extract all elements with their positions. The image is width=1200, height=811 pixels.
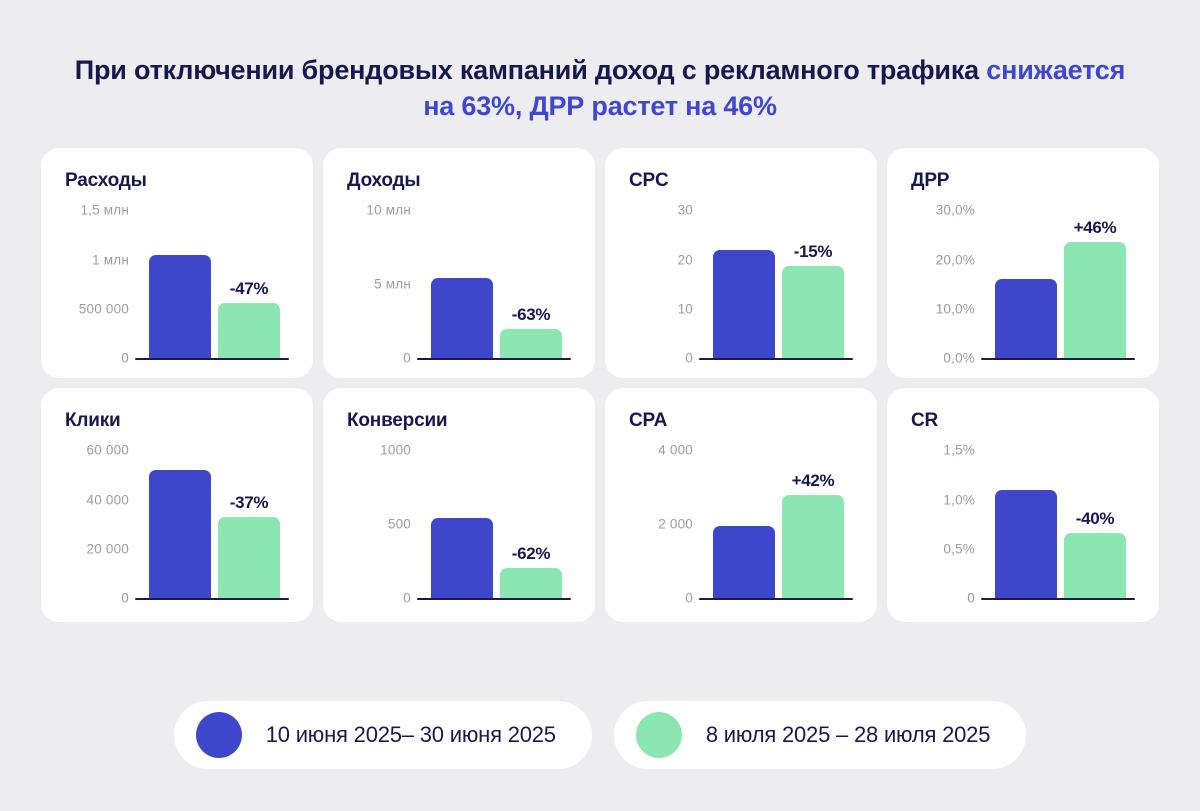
y-axis-tick: 20,0% [936, 252, 975, 267]
y-axis-tick: 30 [678, 203, 693, 218]
bar-chart: 1,5 млн1 млн500 0000-47% [55, 210, 293, 360]
metric-card-title: Конверсии [347, 410, 575, 432]
bar-chart: 1,5%1,0%0,5%0-40% [901, 450, 1139, 600]
bar-period-1 [713, 526, 775, 598]
y-axis-tick: 1,5 млн [80, 203, 129, 218]
plot-area: -62% [417, 450, 571, 600]
infographic-page: При отключении брендовых кампаний доход … [0, 0, 1200, 811]
bar-period-1 [431, 518, 493, 598]
metric-card: ДРР30,0%20,0%10,0%0,0%+46% [887, 148, 1159, 378]
y-axis-tick: 0 [967, 591, 975, 606]
x-axis-baseline [417, 358, 571, 361]
metric-card: Доходы10 млн5 млн0-63% [323, 148, 595, 378]
metric-card: CPC3020100-15% [605, 148, 877, 378]
bar-chart: 30,0%20,0%10,0%0,0%+46% [901, 210, 1139, 360]
legend: 10 июня 2025– 30 июня 20258 июля 2025 – … [0, 701, 1200, 769]
delta-label: -47% [230, 279, 269, 299]
bar-period-1 [431, 278, 493, 358]
plot-area: +42% [699, 450, 853, 600]
y-axis-tick: 10,0% [936, 302, 975, 317]
x-axis-baseline [135, 358, 289, 361]
bar-period-2: -63% [500, 329, 562, 359]
bar-group: -40% [995, 448, 1126, 598]
y-axis-tick: 500 000 [79, 302, 129, 317]
bar-period-2: +46% [1064, 242, 1126, 358]
y-axis-tick: 2 000 [658, 517, 693, 532]
bar-group: +42% [713, 448, 844, 598]
plot-area: +46% [981, 210, 1135, 360]
y-axis: 10005000 [337, 450, 411, 600]
metric-card: Клики60 00040 00020 0000-37% [41, 388, 313, 622]
metric-card: CR1,5%1,0%0,5%0-40% [887, 388, 1159, 622]
y-axis-tick: 0 [685, 591, 693, 606]
y-axis: 1,5%1,0%0,5%0 [901, 450, 975, 600]
y-axis-tick: 1000 [380, 443, 411, 458]
bar-period-1 [995, 279, 1057, 358]
y-axis: 3020100 [619, 210, 693, 360]
y-axis-tick: 30,0% [936, 203, 975, 218]
y-axis: 30,0%20,0%10,0%0,0% [901, 210, 975, 360]
bar-period-2: +42% [782, 495, 844, 599]
bar-chart: 60 00040 00020 0000-37% [55, 450, 293, 600]
y-axis-tick: 4 000 [658, 443, 693, 458]
delta-label: -37% [230, 493, 269, 513]
y-axis-tick: 40 000 [87, 492, 130, 507]
x-axis-baseline [981, 358, 1135, 361]
y-axis-tick: 20 [678, 252, 693, 267]
bar-period-2: -62% [500, 568, 562, 598]
y-axis-tick: 1,5% [943, 443, 975, 458]
metric-card-title: Доходы [347, 170, 575, 192]
metric-card-title: ДРР [911, 170, 1139, 192]
legend-item-label: 8 июля 2025 – 28 июля 2025 [706, 722, 990, 748]
metric-card: Конверсии10005000-62% [323, 388, 595, 622]
bar-period-2: -15% [782, 266, 844, 358]
delta-label: -15% [794, 242, 833, 262]
bar-period-1 [149, 470, 211, 598]
x-axis-baseline [699, 598, 853, 601]
delta-label: +42% [792, 471, 835, 491]
metric-card-title: CPC [629, 170, 857, 192]
bar-chart: 10005000-62% [337, 450, 575, 600]
bar-group: -15% [713, 208, 844, 358]
bar-period-1 [995, 490, 1057, 599]
y-axis: 1,5 млн1 млн500 0000 [55, 210, 129, 360]
delta-label: -62% [512, 544, 551, 564]
y-axis-tick: 5 млн [374, 277, 411, 292]
y-axis: 10 млн5 млн0 [337, 210, 411, 360]
x-axis-baseline [135, 598, 289, 601]
y-axis-tick: 20 000 [87, 542, 130, 557]
title-block: При отключении брендовых кампаний доход … [0, 0, 1200, 124]
plot-area: -63% [417, 210, 571, 360]
legend-item-label: 10 июня 2025– 30 июня 2025 [266, 722, 556, 748]
metric-card-title: CPA [629, 410, 857, 432]
delta-label: -40% [1076, 509, 1115, 529]
bar-group: -37% [149, 448, 280, 598]
x-axis-baseline [699, 358, 853, 361]
y-axis-tick: 0 [121, 351, 129, 366]
bar-period-2: -37% [218, 517, 280, 598]
legend-item: 10 июня 2025– 30 июня 2025 [174, 701, 592, 769]
y-axis-tick: 1 млн [92, 252, 129, 267]
y-axis: 60 00040 00020 0000 [55, 450, 129, 600]
y-axis-tick: 0 [403, 591, 411, 606]
y-axis-tick: 1,0% [943, 492, 975, 507]
bar-chart: 3020100-15% [619, 210, 857, 360]
metric-card: Расходы1,5 млн1 млн500 0000-47% [41, 148, 313, 378]
y-axis-tick: 0 [685, 351, 693, 366]
metric-card-grid: Расходы1,5 млн1 млн500 0000-47%Доходы10 … [41, 148, 1159, 622]
bar-chart: 4 0002 0000+42% [619, 450, 857, 600]
y-axis-tick: 10 млн [366, 203, 411, 218]
x-axis-baseline [417, 598, 571, 601]
metric-card-title: CR [911, 410, 1139, 432]
title-prefix: При отключении брендовых кампаний доход … [75, 55, 986, 85]
bar-group: -63% [431, 208, 562, 358]
y-axis-tick: 0,5% [943, 542, 975, 557]
metric-card-title: Клики [65, 410, 293, 432]
bar-group: -47% [149, 208, 280, 358]
plot-area: -47% [135, 210, 289, 360]
plot-area: -37% [135, 450, 289, 600]
y-axis-tick: 0,0% [943, 351, 975, 366]
y-axis-tick: 0 [403, 351, 411, 366]
y-axis-tick: 10 [678, 302, 693, 317]
metric-card-title: Расходы [65, 170, 293, 192]
bar-group: +46% [995, 208, 1126, 358]
bar-period-1 [713, 250, 775, 359]
bar-period-1 [149, 255, 211, 359]
page-title: При отключении брендовых кампаний доход … [60, 52, 1140, 124]
bar-period-2: -47% [218, 303, 280, 358]
legend-item: 8 июля 2025 – 28 июля 2025 [614, 701, 1026, 769]
y-axis: 4 0002 0000 [619, 450, 693, 600]
y-axis-tick: 60 000 [87, 443, 130, 458]
legend-dot-period-2 [636, 712, 682, 758]
bar-group: -62% [431, 448, 562, 598]
y-axis-tick: 0 [121, 591, 129, 606]
plot-area: -40% [981, 450, 1135, 600]
metric-card: CPA4 0002 0000+42% [605, 388, 877, 622]
y-axis-tick: 500 [388, 517, 411, 532]
plot-area: -15% [699, 210, 853, 360]
legend-dot-period-1 [196, 712, 242, 758]
x-axis-baseline [981, 598, 1135, 601]
bar-chart: 10 млн5 млн0-63% [337, 210, 575, 360]
delta-label: -63% [512, 305, 551, 325]
delta-label: +46% [1074, 218, 1117, 238]
bar-period-2: -40% [1064, 533, 1126, 598]
